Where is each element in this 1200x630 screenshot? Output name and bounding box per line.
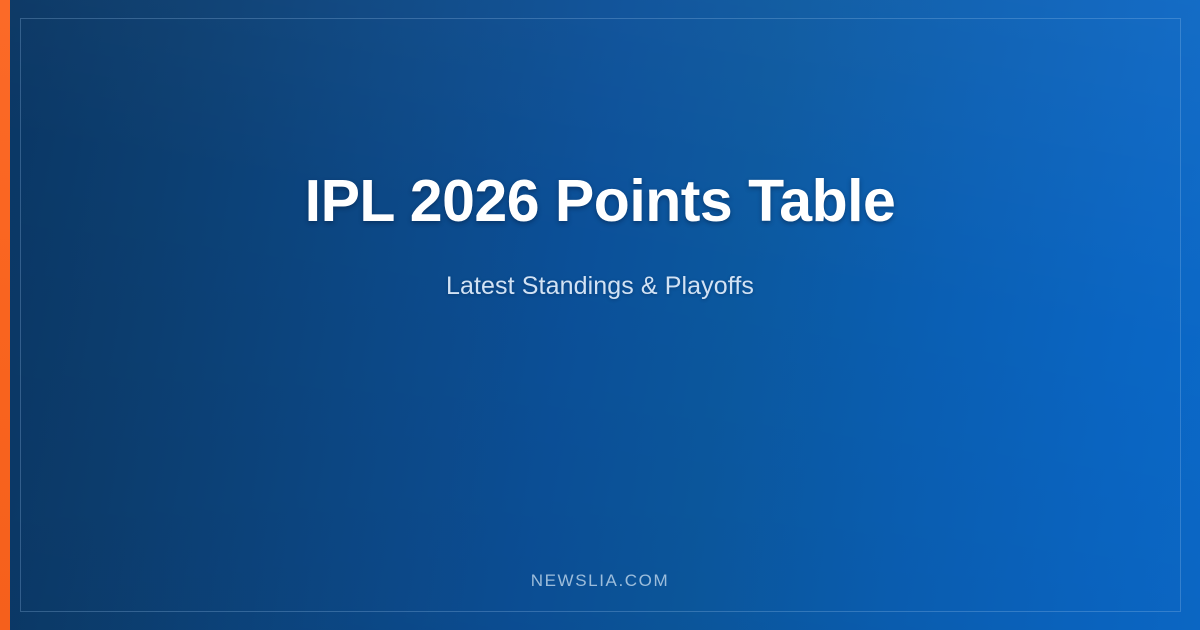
- social-share-card: IPL 2026 Points Table Latest Standings &…: [0, 0, 1200, 630]
- site-watermark: NEWSLIA.COM: [0, 570, 1200, 592]
- card-content: IPL 2026 Points Table Latest Standings &…: [0, 0, 1200, 630]
- page-subtitle: Latest Standings & Playoffs: [0, 271, 1200, 301]
- page-title: IPL 2026 Points Table: [0, 169, 1200, 233]
